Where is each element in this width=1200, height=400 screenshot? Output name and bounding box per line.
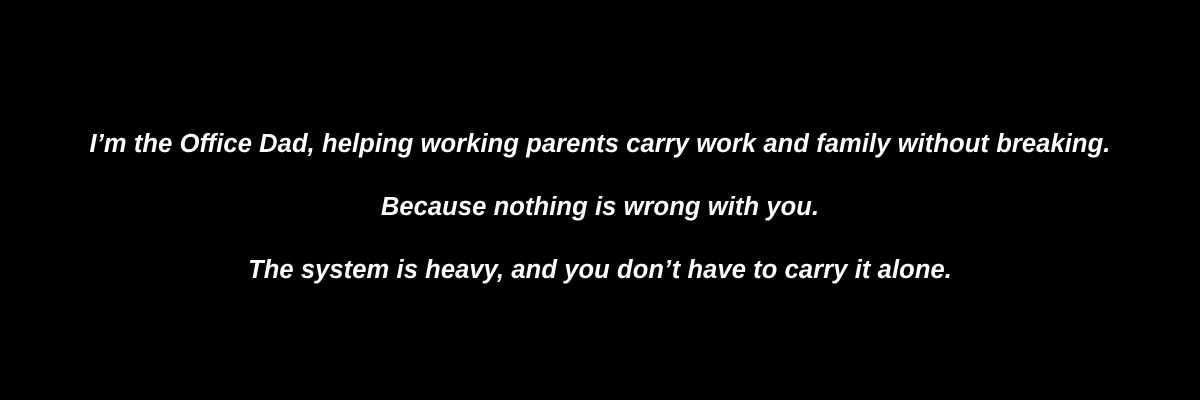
statement-card: I’m the Office Dad, helping working pare… <box>0 0 1200 400</box>
statement-text-block: I’m the Office Dad, helping working pare… <box>0 113 1200 302</box>
statement-line-1: I’m the Office Dad, helping working pare… <box>40 113 1160 176</box>
statement-line-2: Because nothing is wrong with you. <box>40 176 1160 239</box>
statement-line-3: The system is heavy, and you don’t have … <box>40 239 1160 302</box>
